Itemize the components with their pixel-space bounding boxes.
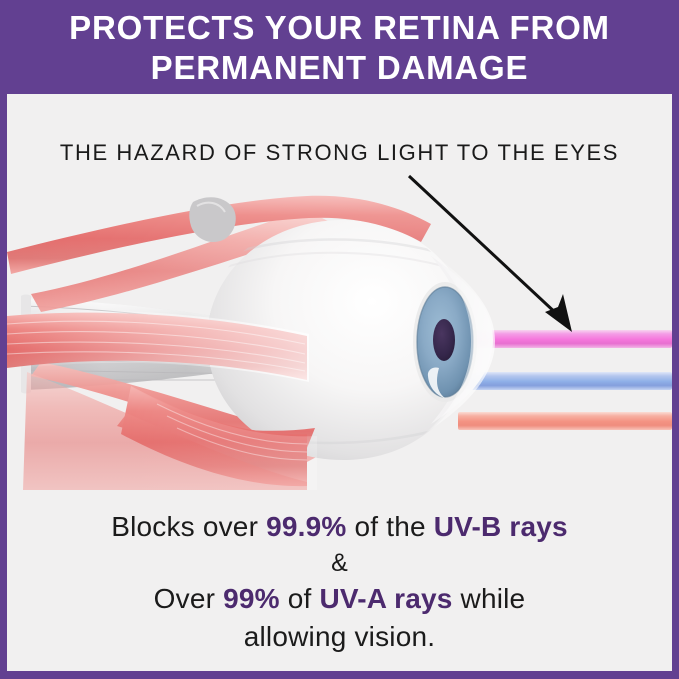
banner-title-line-2: PERMANENT DAMAGE [151,48,529,88]
banner-title-line-1: PROTECTS YOUR RETINA FROM [69,8,610,48]
frame-border-left [0,94,7,679]
claim-uva-rays: UV-A rays [319,583,452,614]
claim-uvb-prefix: Blocks over [111,511,266,542]
pointer-arrow [397,164,597,344]
claim-uvb-middle: of the [347,511,434,542]
arrow-head [545,294,572,332]
claims-block: Blocks over 99.9% of the UV-B rays & Ove… [7,508,672,656]
frame-border-right [672,94,679,679]
header-banner: PROTECTS YOUR RETINA FROM PERMANENT DAMA… [0,0,679,94]
claim-line-vision: allowing vision. [7,618,672,656]
claim-uvb-rays: UV-B rays [434,511,568,542]
infographic-card: PROTECTS YOUR RETINA FROM PERMANENT DAMA… [0,0,679,679]
claim-uva-percent: 99% [223,583,280,614]
content-canvas: THE HAZARD OF STRONG LIGHT TO THE EYES [7,94,672,671]
claim-uva-prefix: Over [154,583,223,614]
claim-uva-suffix: while [453,583,526,614]
frame-border-bottom [0,671,679,679]
claim-uvb-percent: 99.9% [266,511,346,542]
claim-line-uvb: Blocks over 99.9% of the UV-B rays [7,508,672,546]
arrow-shaft [409,176,559,316]
claim-ampersand: & [7,546,672,580]
claim-line-uva: Over 99% of UV-A rays while [7,580,672,618]
claim-uva-middle: of [280,583,320,614]
subtitle-text: THE HAZARD OF STRONG LIGHT TO THE EYES [7,140,672,166]
